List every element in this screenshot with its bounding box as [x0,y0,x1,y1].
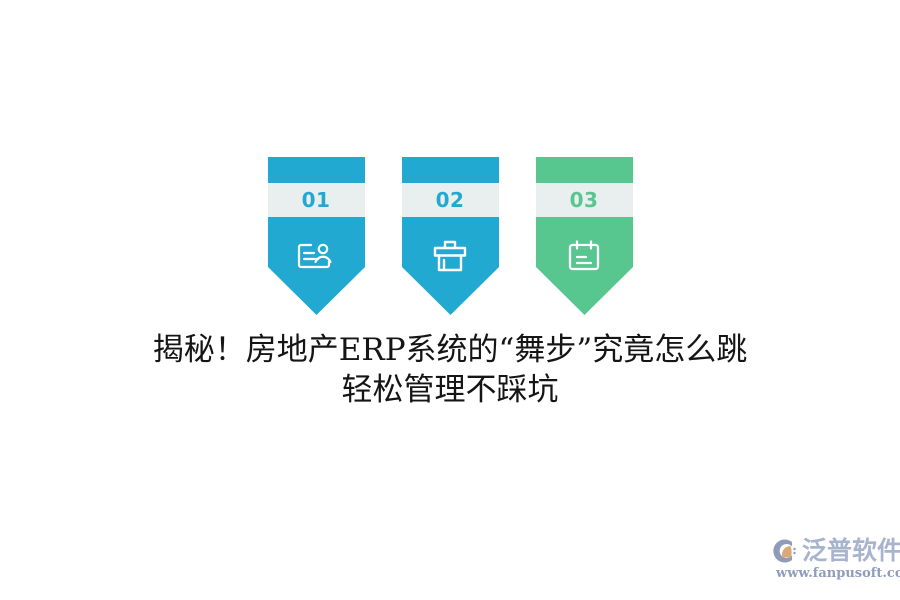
banner-group: 01 02 [0,157,900,315]
poster-canvas: 01 02 [0,0,900,600]
logo-row: 泛普软件 [770,534,890,568]
banner-number-03: 03 [570,190,599,210]
brand-logo[interactable]: 泛普软件 www.fanpusoft.com [770,534,890,586]
title-line-2: 轻松管理不踩坑 [0,370,900,410]
banner-number-band-01: 01 [268,183,365,217]
storefront-icon [402,235,499,277]
logo-url-text: www.fanpusoft.com [776,566,890,582]
title-line-1: 揭秘！房地产ERP系统的“舞步”究竟怎么跳 [0,330,900,370]
banner-number-band-02: 02 [402,183,499,217]
fanpu-logomark-icon [770,536,800,566]
page-title: 揭秘！房地产ERP系统的“舞步”究竟怎么跳 轻松管理不踩坑 [0,330,900,410]
calendar-note-icon [536,235,633,277]
logo-brand-text: 泛普软件 [802,536,900,566]
banner-number-02: 02 [436,190,465,210]
banner-item-02[interactable]: 02 [402,157,499,315]
contact-card-icon [268,235,365,277]
banner-item-03[interactable]: 03 [536,157,633,315]
banner-number-01: 01 [302,190,331,210]
banner-number-band-03: 03 [536,183,633,217]
banner-item-01[interactable]: 01 [268,157,365,315]
